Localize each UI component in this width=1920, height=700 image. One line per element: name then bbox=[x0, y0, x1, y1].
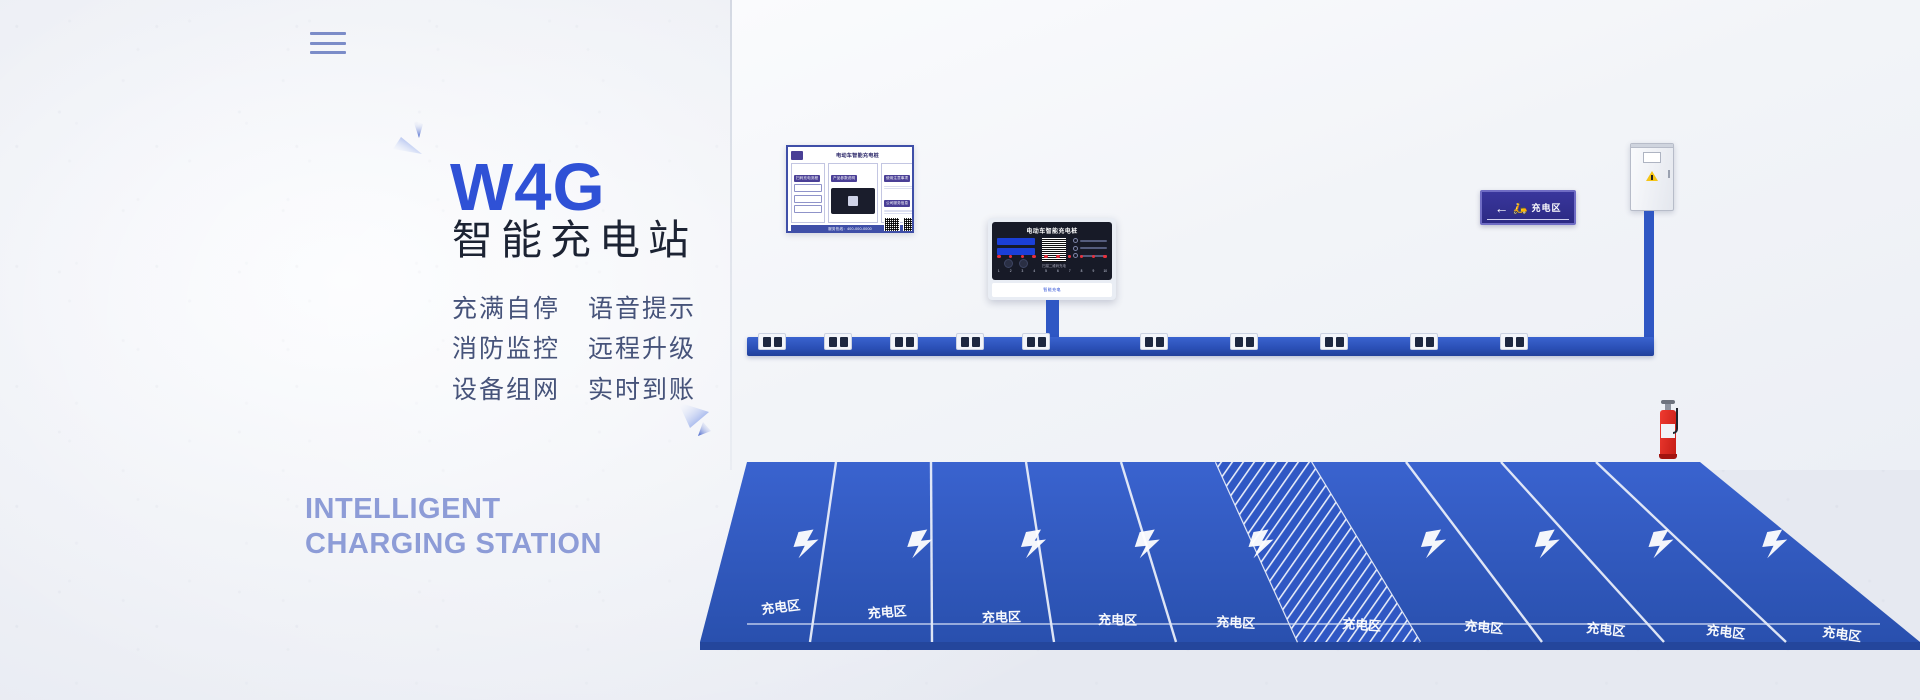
socket-outlet-icon bbox=[1246, 337, 1254, 347]
poster-flow-step-2 bbox=[794, 195, 822, 203]
socket-outlet-icon bbox=[1235, 337, 1243, 347]
socket-outlet-icon bbox=[972, 337, 980, 347]
poster-device-screen bbox=[848, 196, 858, 206]
feature-item-6: 实时到账 bbox=[588, 375, 696, 406]
feature-item-5: 设备组网 bbox=[452, 375, 560, 406]
charging-pile-unit[interactable]: 电动车智能充电桩 扫描二维码充电 bbox=[988, 218, 1116, 300]
port-status-led bbox=[1021, 255, 1025, 259]
extinguisher-hose bbox=[1673, 408, 1678, 434]
port-status-led bbox=[1032, 255, 1036, 259]
cabinet-top-cap bbox=[1631, 144, 1673, 148]
charging-pile-info-row bbox=[1073, 246, 1107, 251]
poster-section-3-label: 使用注意事项 bbox=[884, 175, 910, 182]
port-status-led bbox=[1080, 255, 1084, 259]
poster-qr-group bbox=[884, 217, 914, 233]
wall-socket[interactable] bbox=[890, 333, 918, 350]
charging-pile-panel: 电动车智能充电桩 扫描二维码充电 bbox=[992, 222, 1112, 280]
fire-extinguisher bbox=[1658, 396, 1678, 460]
poster-column-info: 使用注意事项 公司服务信息 bbox=[881, 163, 914, 223]
port-status-led bbox=[997, 255, 1001, 259]
info-text-line bbox=[1080, 240, 1107, 242]
page-title: W4G bbox=[450, 154, 606, 221]
direction-sign-label: 充电区 bbox=[1531, 201, 1561, 214]
socket-outlet-icon bbox=[763, 337, 771, 347]
wall-socket[interactable] bbox=[956, 333, 984, 350]
socket-outlet-icon bbox=[1516, 337, 1524, 347]
port-status-led bbox=[1044, 255, 1048, 259]
english-tagline-line1: INTELLIGENT bbox=[305, 492, 602, 527]
charging-port[interactable]: 1 bbox=[997, 255, 1001, 278]
port-number: 10 bbox=[1103, 269, 1107, 273]
poster-section-4-label: 公司服务信息 bbox=[884, 200, 910, 207]
port-number: 1 bbox=[998, 269, 1000, 273]
scene-wall bbox=[730, 0, 1920, 470]
socket-outlet-icon bbox=[1415, 337, 1423, 347]
cabinet-meter-window bbox=[1643, 152, 1661, 163]
socket-outlet-icon bbox=[1145, 337, 1153, 347]
poster-text-line bbox=[884, 210, 914, 211]
poster-header: 电动车智能充电桩 bbox=[791, 150, 909, 161]
wall-corner-edge bbox=[730, 0, 732, 470]
socket-outlet-icon bbox=[1027, 337, 1035, 347]
wall-socket[interactable] bbox=[1500, 333, 1528, 350]
socket-outlet-icon bbox=[1505, 337, 1513, 347]
socket-outlet-icon bbox=[829, 337, 837, 347]
port-status-led bbox=[1103, 255, 1107, 259]
wall-socket[interactable] bbox=[1410, 333, 1438, 350]
poster-device-image bbox=[831, 188, 875, 214]
wall-socket[interactable] bbox=[824, 333, 852, 350]
poster-text-line bbox=[884, 186, 914, 187]
cabinet-hinge bbox=[1668, 170, 1670, 178]
wall-socket[interactable] bbox=[1140, 333, 1168, 350]
charging-pile-port-row[interactable]: 1 2 3 4 5 6 7 8 9 10 bbox=[997, 255, 1107, 278]
poster-footer-text: 服务热线：400-000-0000 bbox=[828, 227, 872, 232]
info-bullet-icon bbox=[1073, 238, 1078, 243]
socket-outlet-icon bbox=[1325, 337, 1333, 347]
poster-column-flow: 扫码充电流程 bbox=[791, 163, 825, 223]
port-status-led bbox=[1068, 255, 1072, 259]
svg-text:充电区: 充电区 bbox=[982, 609, 1021, 625]
wall-socket[interactable] bbox=[1022, 333, 1050, 350]
poster-text-line bbox=[884, 213, 914, 214]
feature-item-4: 远程升级 bbox=[588, 334, 696, 365]
direction-sign-underline bbox=[1487, 219, 1569, 221]
charging-pile-display-1 bbox=[997, 238, 1035, 245]
menu-line-2 bbox=[310, 42, 346, 45]
socket-outlet-icon bbox=[774, 337, 782, 347]
wall-socket[interactable] bbox=[1230, 333, 1258, 350]
charging-port[interactable]: 10 bbox=[1103, 255, 1107, 278]
charging-pile-brand-label: 智能充电 bbox=[1043, 287, 1061, 293]
charging-port[interactable]: 8 bbox=[1080, 255, 1084, 278]
poster-qr-code-alipay-icon bbox=[903, 217, 914, 233]
charging-port[interactable]: 9 bbox=[1092, 255, 1096, 278]
charging-port[interactable]: 7 bbox=[1068, 255, 1072, 278]
left-arrow-icon: ← bbox=[1495, 201, 1509, 215]
info-bullet-icon bbox=[1073, 246, 1078, 251]
parking-floor: 充电区 充电区 充电区 充电区 充电区 充电区 充电区 充电区 充电区 充电区 bbox=[700, 452, 1920, 700]
port-number: 6 bbox=[1057, 269, 1059, 273]
charging-pile-title: 电动车智能充电桩 bbox=[997, 226, 1107, 235]
high-voltage-warning-icon bbox=[1646, 171, 1658, 181]
poster-logo-icon bbox=[791, 151, 803, 160]
feature-list: 充满自停 语音提示 消防监控 远程升级 设备组网 实时到账 bbox=[452, 294, 696, 406]
poster-qr-code-wechat-icon bbox=[884, 217, 900, 233]
poster-section-2-label: 产品参数说明 bbox=[831, 175, 857, 182]
svg-text:充电区: 充电区 bbox=[1216, 614, 1256, 631]
wall-instruction-poster: 电动车智能充电桩 扫码充电流程 产品参数说明 使用注意事项 公司服务信 bbox=[786, 145, 914, 233]
port-status-led bbox=[1092, 255, 1096, 259]
hamburger-menu-icon[interactable] bbox=[310, 32, 346, 54]
port-number: 9 bbox=[1092, 269, 1094, 273]
charging-pile-info-row bbox=[1073, 238, 1107, 243]
english-tagline: INTELLIGENT CHARGING STATION bbox=[305, 492, 602, 563]
socket-outlet-icon bbox=[1156, 337, 1164, 347]
port-number: 5 bbox=[1045, 269, 1047, 273]
port-number: 8 bbox=[1081, 269, 1083, 273]
port-status-led bbox=[1056, 255, 1060, 259]
wall-socket[interactable] bbox=[1320, 333, 1348, 350]
charging-pile-base-branding: 智能充电 bbox=[992, 283, 1112, 297]
port-status-led bbox=[1009, 255, 1013, 259]
socket-outlet-icon bbox=[1426, 337, 1434, 347]
socket-outlet-icon bbox=[840, 337, 848, 347]
charging-station-illustration: 电动车智能充电桩 扫码充电流程 产品参数说明 使用注意事项 公司服务信 bbox=[700, 0, 1920, 700]
direction-sign: ← 🛵 充电区 bbox=[1480, 190, 1576, 225]
hero-banner: W4G 智能充电站 充满自停 语音提示 消防监控 远程升级 设备组网 实时到账 … bbox=[0, 0, 1920, 700]
poster-column-device: 产品参数说明 bbox=[828, 163, 878, 223]
socket-outlet-icon bbox=[1038, 337, 1046, 347]
poster-flow-step-3 bbox=[794, 205, 822, 213]
poster-title: 电动车智能充电桩 bbox=[806, 152, 909, 159]
svg-text:充电区: 充电区 bbox=[867, 603, 907, 621]
info-text-line bbox=[1080, 247, 1107, 249]
poster-body: 扫码充电流程 产品参数说明 使用注意事项 公司服务信息 bbox=[791, 163, 909, 223]
port-number: 3 bbox=[1022, 269, 1024, 273]
electrical-cabinet bbox=[1630, 143, 1674, 211]
wall-socket[interactable] bbox=[758, 333, 786, 350]
menu-line-3 bbox=[310, 51, 346, 54]
socket-outlet-icon bbox=[1336, 337, 1344, 347]
charging-port[interactable]: 4 bbox=[1032, 255, 1036, 278]
feature-item-3: 消防监控 bbox=[452, 334, 560, 365]
svg-text:充电区: 充电区 bbox=[1342, 616, 1382, 634]
poster-section-1-label: 扫码充电流程 bbox=[794, 175, 820, 182]
page-subtitle: 智能充电站 bbox=[452, 216, 697, 265]
wall-conduit-vertical bbox=[1644, 211, 1654, 345]
port-number: 2 bbox=[1010, 269, 1012, 273]
svg-text:充电区: 充电区 bbox=[1098, 612, 1137, 628]
poster-text-line bbox=[884, 188, 914, 189]
english-tagline-line2: CHARGING STATION bbox=[305, 527, 602, 562]
port-number: 7 bbox=[1069, 269, 1071, 273]
charging-port[interactable]: 3 bbox=[1021, 255, 1025, 278]
feature-item-1: 充满自停 bbox=[452, 294, 560, 325]
charging-port[interactable]: 2 bbox=[1009, 255, 1013, 278]
menu-line-1 bbox=[310, 32, 346, 35]
feature-item-2: 语音提示 bbox=[588, 294, 696, 325]
charging-port[interactable]: 6 bbox=[1056, 255, 1060, 278]
socket-outlet-icon bbox=[895, 337, 903, 347]
socket-outlet-icon bbox=[961, 337, 969, 347]
decorative-arrow-top bbox=[392, 120, 436, 164]
port-number: 4 bbox=[1033, 269, 1035, 273]
poster-flow-step-1 bbox=[794, 184, 822, 192]
charging-port[interactable]: 5 bbox=[1044, 255, 1048, 278]
socket-outlet-icon bbox=[906, 337, 914, 347]
scooter-icon: 🛵 bbox=[1513, 202, 1528, 214]
